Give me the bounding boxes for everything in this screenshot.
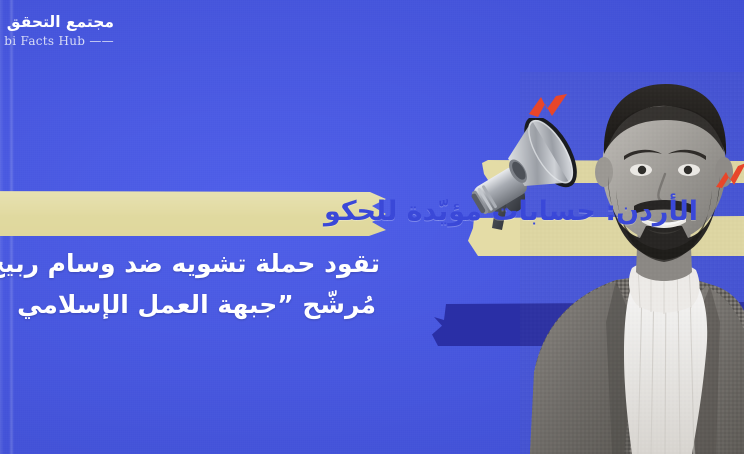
- logo-arabic-text: مجتمع التحقق: [0, 14, 114, 32]
- news-graphic-card: مجتمع التحقق bi Facts Hub —— الأردن: حسا…: [0, 0, 744, 454]
- subtitle-line-1: تقود حملة تشويه ضد وسام ربيح: [0, 249, 380, 278]
- headline-text: الأردن: حسابات مؤيّدة للحكو: [324, 196, 698, 227]
- subtitle-line-2: مُرشّح ”جبهة العمل الإسلامي: [17, 290, 376, 319]
- lightning-bolt-icon: [528, 92, 568, 126]
- lightning-bolt-icon-secondary: [716, 163, 744, 189]
- logo: مجتمع التحقق bi Facts Hub ——: [0, 14, 114, 48]
- logo-latin-text: bi Facts Hub ——: [0, 34, 114, 48]
